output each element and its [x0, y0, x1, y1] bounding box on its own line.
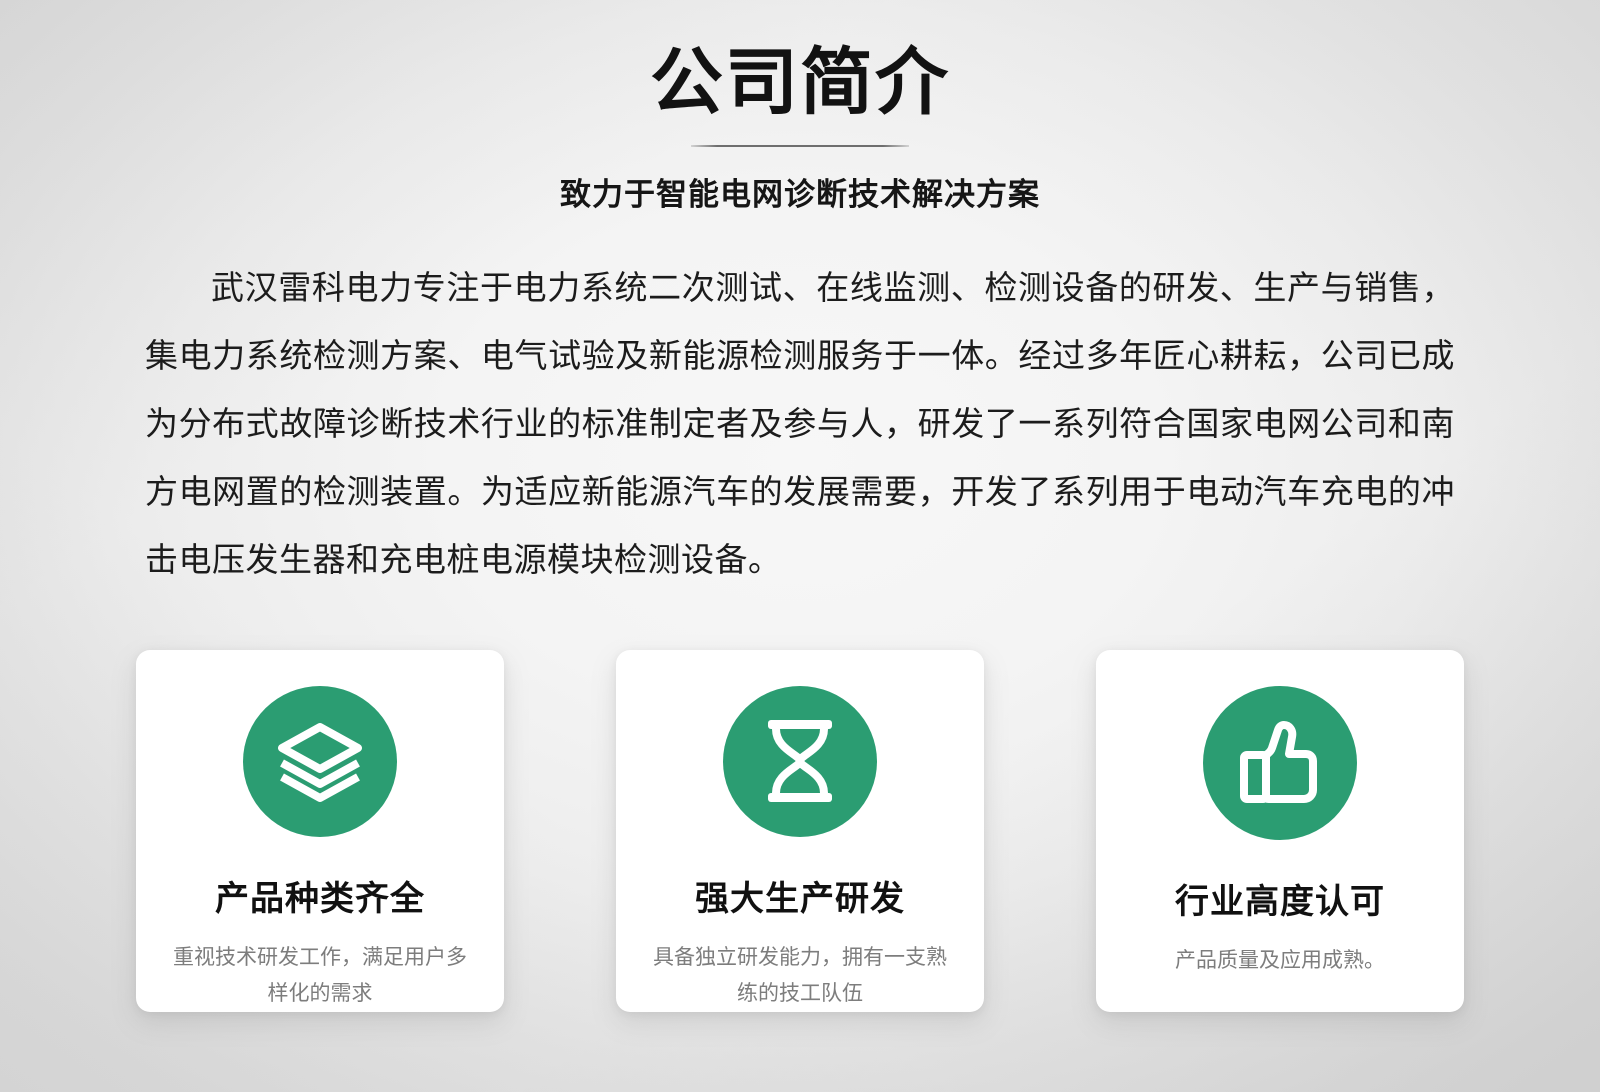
hourglass-icon: [723, 686, 877, 837]
feature-card-list: 产品种类齐全 重视技术研发工作，满足用户多样化的需求 强大生产研发 具备独立研发…: [0, 650, 1600, 1012]
feature-card[interactable]: 强大生产研发 具备独立研发能力，拥有一支熟练的技工队伍: [616, 650, 984, 1012]
feature-card-title: 产品种类齐全: [215, 871, 425, 920]
title-divider: [691, 145, 909, 147]
layers-icon: [243, 686, 397, 837]
company-intro-paragraph: 武汉雷科电力专注于电力系统二次测试、在线监测、检测设备的研发、生产与销售，集电力…: [145, 254, 1455, 594]
company-profile-page: 公司简介 致力于智能电网诊断技术解决方案 武汉雷科电力专注于电力系统二次测试、在…: [0, 0, 1600, 1092]
feature-card[interactable]: 行业高度认可 产品质量及应用成熟。: [1096, 650, 1464, 1012]
page-header: 公司简介 致力于智能电网诊断技术解决方案: [0, 0, 1600, 214]
page-subtitle: 致力于智能电网诊断技术解决方案: [0, 169, 1600, 214]
feature-card-description: 产品质量及应用成熟。: [1130, 943, 1430, 979]
feature-card-title: 强大生产研发: [695, 871, 905, 920]
thumbs-up-icon: [1203, 686, 1357, 840]
page-title: 公司简介: [0, 44, 1600, 123]
feature-card-description: 具备独立研发能力，拥有一支熟练的技工队伍: [650, 940, 950, 1012]
feature-card[interactable]: 产品种类齐全 重视技术研发工作，满足用户多样化的需求: [136, 650, 504, 1012]
feature-card-description: 重视技术研发工作，满足用户多样化的需求: [170, 940, 470, 1012]
feature-card-title: 行业高度认可: [1175, 874, 1385, 923]
